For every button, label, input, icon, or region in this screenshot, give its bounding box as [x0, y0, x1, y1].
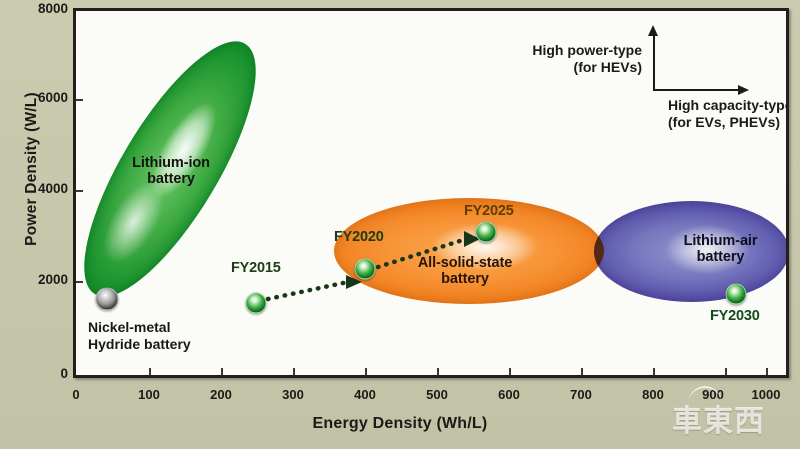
annotation-high-power-line1: High power-type	[532, 42, 642, 58]
region-label-lithium-air: Lithium-air battery	[648, 233, 789, 265]
x-tick-100: 100	[138, 387, 160, 402]
marker-fy2015[interactable]	[246, 293, 267, 314]
tick-mark-y-2000	[76, 281, 83, 283]
tick-mark-x-300	[293, 368, 295, 375]
tick-mark-y-6000	[76, 99, 83, 101]
chart-canvas: Power Density (W/L) 8000 6000 4000 2000 …	[0, 0, 800, 449]
x-tick-800: 800	[642, 387, 664, 402]
marker-fy2025[interactable]	[476, 222, 497, 243]
nimh-label-line2: Hydride battery	[88, 336, 191, 352]
annotation-high-power-line2: (for HEVs)	[574, 59, 642, 75]
marker-label-nickel-metal-hydride: Nickel-metal Hydride battery	[88, 319, 248, 352]
annotation-high-capacity-line1: High capacity-type	[668, 97, 789, 113]
marker-label-fy2015: FY2015	[231, 260, 281, 276]
annotation-arrow-right-icon	[738, 85, 749, 95]
tick-mark-x-900	[725, 368, 727, 375]
region-label-lithium-air-line2: battery	[697, 249, 745, 265]
tick-mark-x-1000	[766, 368, 768, 375]
annotation-axis-vertical	[653, 35, 655, 91]
marker-label-fy2030: FY2030	[710, 308, 760, 324]
region-label-lithium-air-line1: Lithium-air	[684, 233, 758, 249]
x-tick-600: 600	[498, 387, 520, 402]
region-label-lithium-ion-line2: battery	[147, 171, 195, 187]
marker-nickel-metal-hydride[interactable]	[96, 288, 119, 311]
annotation-arrow-up-icon	[648, 25, 658, 36]
x-tick-700: 700	[570, 387, 592, 402]
region-label-all-solid-state: All-solid-state battery	[370, 255, 560, 287]
annotation-high-capacity: High capacity-type (for EVs, PHEVs)	[668, 97, 789, 131]
annotation-axis-horizontal	[653, 89, 741, 91]
tick-mark-x-400	[365, 368, 367, 375]
marker-label-fy2025: FY2025	[464, 203, 514, 219]
tick-mark-y-4000	[76, 190, 83, 192]
annotation-high-capacity-line2: (for EVs, PHEVs)	[668, 114, 780, 130]
annotation-high-power: High power-type (for HEVs)	[454, 42, 642, 76]
tick-mark-x-800	[653, 368, 655, 375]
x-tick-300: 300	[282, 387, 304, 402]
arrow-2015-2020	[268, 282, 348, 299]
x-tick-200: 200	[210, 387, 232, 402]
tick-mark-x-100	[149, 368, 151, 375]
region-label-all-solid-state-line2: battery	[441, 271, 489, 287]
plot-area: Lithium-ion battery All-solid-state batt…	[73, 8, 789, 378]
marker-fy2030[interactable]	[726, 284, 747, 305]
tick-mark-x-700	[581, 368, 583, 375]
region-label-lithium-ion-line1: Lithium-ion	[132, 155, 210, 171]
marker-label-fy2020: FY2020	[334, 229, 384, 245]
x-tick-0: 0	[72, 387, 79, 402]
x-tick-500: 500	[426, 387, 448, 402]
region-label-all-solid-state-line1: All-solid-state	[418, 255, 512, 271]
marker-fy2020[interactable]	[355, 259, 376, 280]
x-tick-400: 400	[354, 387, 376, 402]
tick-mark-x-500	[437, 368, 439, 375]
nimh-label-line1: Nickel-metal	[88, 319, 170, 335]
region-label-lithium-ion: Lithium-ion battery	[116, 155, 226, 187]
tick-mark-x-200	[221, 368, 223, 375]
tick-mark-x-600	[509, 368, 511, 375]
watermark-logo: 車東西	[672, 398, 794, 446]
